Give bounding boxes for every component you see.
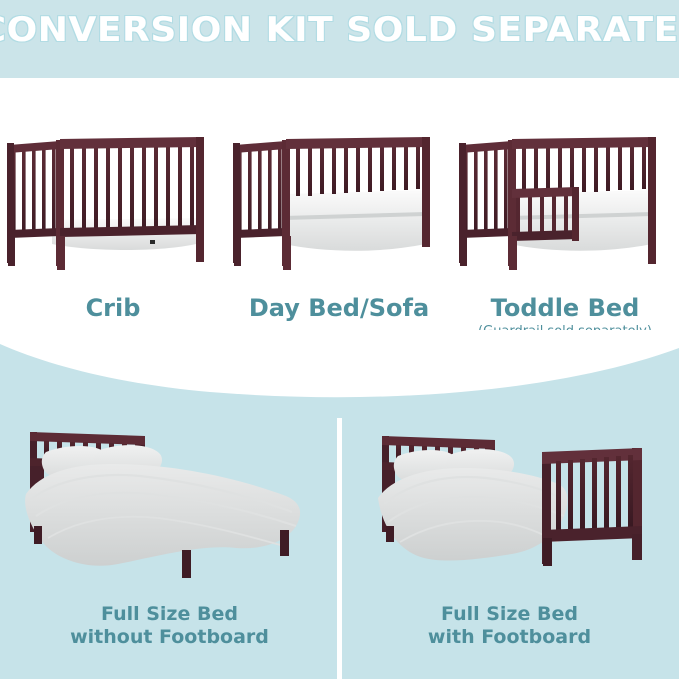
bed-label-line2: without Footboard (0, 626, 339, 649)
crib-illustration (0, 132, 226, 282)
page-title: CONVERSION KIT SOLD SEPARATELY (0, 10, 679, 50)
bed-label-line1: Full Size Bed (101, 603, 238, 625)
panel-divider (337, 418, 342, 679)
config-day-bed[interactable]: Day Bed/Sofa (226, 132, 452, 347)
bed-label-with-footboard: Full Size Bed with Footboard (340, 603, 679, 649)
config-crib[interactable]: Crib (0, 132, 226, 347)
bed-label-without-footboard: Full Size Bed without Footboard (0, 603, 339, 649)
full-bed-with-footboard[interactable]: Full Size Bed with Footboard (340, 408, 679, 679)
bed-label-line2: with Footboard (340, 626, 679, 649)
full-bed-with-footboard-illustration (340, 408, 679, 588)
conversion-row: Crib (0, 132, 679, 347)
toddler-bed-illustration (452, 132, 678, 282)
day-bed-sofa-illustration (226, 132, 452, 282)
full-bed-no-footboard-illustration (0, 408, 339, 588)
infographic-page: CONVERSION KIT SOLD SEPARATELY (0, 0, 679, 679)
bed-label-line1: Full Size Bed (441, 603, 578, 625)
config-toddler-bed[interactable]: Toddle Bed (Guardrail sold separately) (452, 132, 678, 347)
config-label-day-bed: Day Bed/Sofa (226, 294, 452, 322)
config-label-toddler-bed: Toddle Bed (452, 294, 678, 322)
config-label-crib: Crib (0, 294, 226, 322)
full-bed-without-footboard[interactable]: Full Size Bed without Footboard (0, 408, 339, 679)
